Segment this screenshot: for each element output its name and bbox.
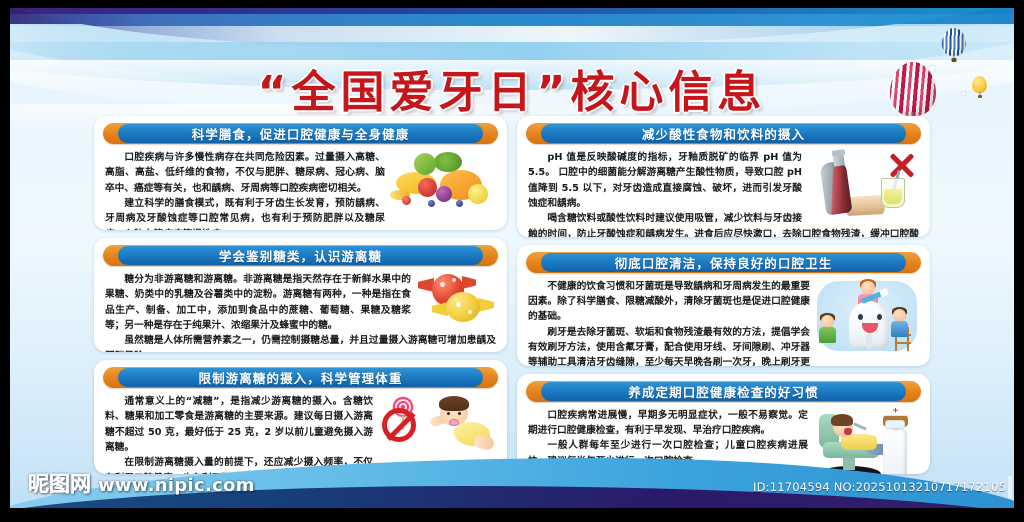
section-header-pill: 养成定期口腔健康检查的好习惯	[541, 382, 906, 401]
section-header-capsule: 限制游离糖的摄入，科学管理体重	[103, 367, 498, 388]
section-header-pill: 科学膳食，促进口腔健康与全身健康	[118, 124, 483, 143]
section-header-capsule: 彻底口腔清洁，保持良好的口腔卫生	[526, 252, 921, 273]
section-body: pH 值是反映酸碱度的指标，牙釉质脱矿的临界 pH 值为 5.5。 口腔中的细菌…	[517, 149, 930, 237]
content-area: 科学膳食，促进口腔健康与全身健康	[10, 116, 1014, 474]
section-panel-sugar-types: 学会鉴别糖类，认识游离糖	[94, 238, 507, 352]
candy-illustration	[416, 272, 496, 330]
section-title: 科学膳食，促进口腔健康与全身健康	[192, 124, 410, 143]
section-paragraph: 虽然糖是人体所需营养素之一，仍需控制摄糖总量，并且过量摄入游离糖可增加患龋及肥胖…	[105, 333, 496, 352]
section-header-pill: 减少酸性食物和饮料的摄入	[541, 124, 906, 143]
nurse-cap-icon	[884, 406, 907, 416]
red-x-icon	[887, 150, 917, 180]
tooth-cleaning-kids-illustration	[815, 279, 919, 357]
section-header-pill: 学会鉴别糖类，认识游离糖	[118, 246, 483, 265]
section-title: 学会鉴别糖类，认识游离糖	[219, 246, 382, 265]
section-body: 糖分为非游离糖和游离糖。非游离糖是指天然存在于新鲜水果中的果糖、奶类中的乳糖及谷…	[94, 271, 507, 352]
section-header-capsule: 养成定期口腔健康检查的好习惯	[526, 381, 921, 402]
watermark-brand: 昵图网	[28, 468, 91, 498]
section-title: 养成定期口腔健康检查的好习惯	[628, 382, 818, 401]
top-purple-curve	[10, 8, 1014, 48]
watermark-url: www.nipic.com	[98, 475, 255, 496]
title-container: “全国爱牙日”核心信息	[10, 56, 1014, 120]
section-header-capsule: 减少酸性食物和饮料的摄入	[526, 123, 921, 144]
poster-root: “全国爱牙日”核心信息 科学膳食，促进口腔健康与全身健康	[0, 0, 1024, 522]
image-id-tag: ID:11704594 NO:20251013210717172105	[753, 480, 1006, 494]
section-panel-oral-cleaning: 彻底口腔清洁，保持良好的口腔卫生	[517, 245, 930, 366]
section-title: 限制游离糖的摄入，科学管理体重	[198, 368, 402, 387]
section-body: 口腔疾病与许多慢性病存在共同危险因素。过量摄入高糖、高脂、高盐、低纤维的食物，不…	[94, 149, 507, 230]
section-header-pill: 限制游离糖的摄入，科学管理体重	[118, 368, 483, 387]
section-body: 不健康的饮食习惯和牙菌斑是导致龋病和牙周病发生的最重要因素。除了科学膳食、限糖减…	[517, 278, 930, 366]
section-header-pill: 彻底口腔清洁，保持良好的口腔卫生	[541, 253, 906, 272]
watermark: 昵图网 www.nipic.com	[28, 468, 255, 498]
page-title: “全国爱牙日”核心信息	[258, 56, 767, 120]
section-panel-diet: 科学膳食，促进口腔健康与全身健康	[94, 116, 507, 230]
id-tag-accent-bar	[1008, 476, 1012, 498]
right-column: 减少酸性食物和饮料的摄入 pH 值是反映酸碱	[517, 116, 930, 474]
left-column: 科学膳食，促进口腔健康与全身健康	[94, 116, 507, 474]
poster-board: “全国爱牙日”核心信息 科学膳食，促进口腔健康与全身健康	[10, 8, 1014, 508]
section-title: 减少酸性食物和饮料的摄入	[642, 124, 805, 143]
cola-bottle-glass-illustration	[807, 150, 919, 224]
section-panel-acidic-foods: 减少酸性食物和饮料的摄入 pH 值是反映酸碱	[517, 116, 930, 237]
section-header-capsule: 科学膳食，促进口腔健康与全身健康	[103, 123, 498, 144]
section-header-capsule: 学会鉴别糖类，认识游离糖	[103, 245, 498, 266]
no-sugar-prohibition-icon	[382, 408, 416, 442]
section-title: 彻底口腔清洁，保持良好的口腔卫生	[615, 253, 833, 272]
hot-air-balloon-blue-icon	[942, 28, 966, 56]
fruits-vegetables-illustration	[390, 150, 496, 212]
